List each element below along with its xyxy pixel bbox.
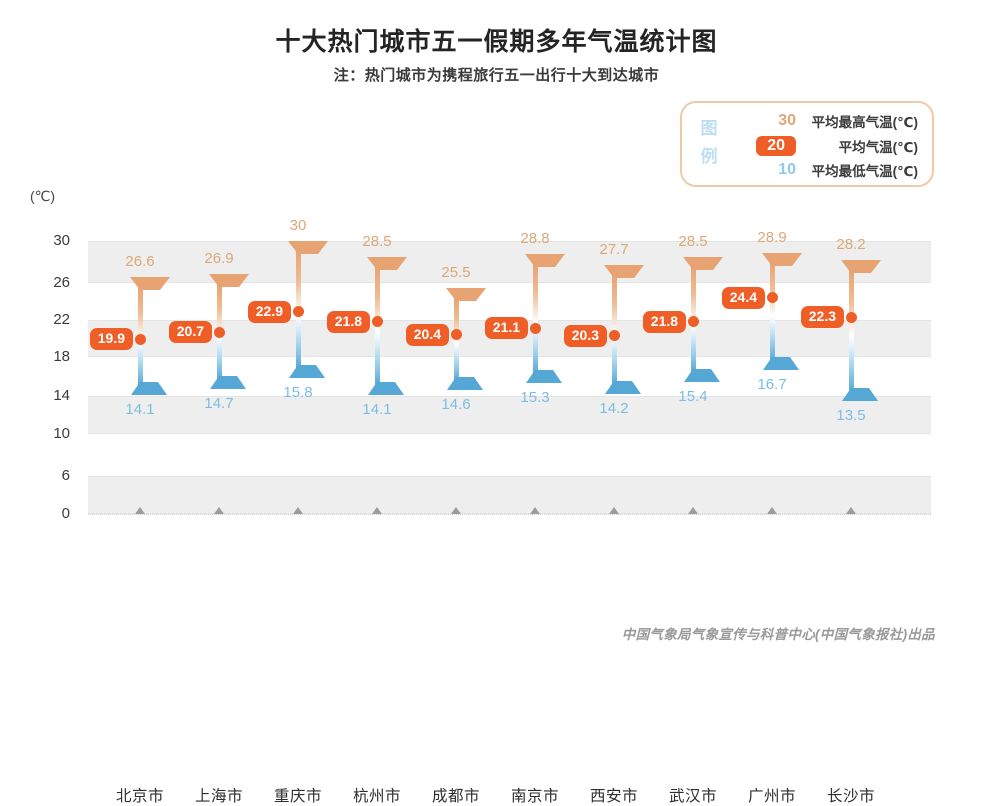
max-temp-label: 28.5 [362, 233, 391, 250]
max-temp-marker [841, 260, 881, 273]
mean-temp-dot [135, 334, 146, 345]
x-axis-label-4: 杭州市 [353, 784, 401, 806]
y-axis-unit: (℃) [30, 188, 55, 205]
max-temp-label: 27.7 [599, 241, 628, 258]
temperature-range-stem [849, 269, 854, 392]
mean-temp-label: 22.3 [801, 306, 844, 328]
min-temp-marker [210, 376, 246, 389]
mean-temp-label: 24.4 [722, 287, 765, 309]
legend-item-min: 10 平均最低气温(℃) [726, 158, 924, 183]
legend-item-mean: 20 平均气温(℃) [726, 134, 924, 159]
legend-key-max: 30 [726, 112, 796, 130]
x-axis-label-9: 广州市 [748, 784, 796, 806]
max-temp-label: 28.8 [520, 230, 549, 247]
min-temp-marker [842, 388, 878, 401]
min-temp-label: 16.7 [757, 376, 786, 393]
x-axis-label-2: 上海市 [195, 784, 243, 806]
mean-temp-dot [609, 330, 620, 341]
mean-temp-dot [530, 323, 541, 334]
max-temp-label: 26.9 [204, 250, 233, 267]
min-temp-marker [526, 370, 562, 383]
min-temp-label: 15.3 [520, 389, 549, 406]
min-temp-marker [289, 365, 325, 378]
axis-tick-marker [372, 507, 382, 514]
max-temp-label: 26.6 [125, 253, 154, 270]
min-temp-marker [447, 377, 483, 390]
max-temp-marker [367, 257, 407, 270]
legend-key-mean: 20 [756, 136, 796, 156]
axis-tick-marker [451, 507, 461, 514]
legend-rows: 30 平均最高气温(℃) 20 平均气温(℃) 10 平均最低气温(℃) [726, 109, 924, 179]
temperature-range-stem [533, 263, 538, 375]
min-temp-marker [605, 381, 641, 394]
page-subtitle: 注：热门城市为携程旅行五一出行十大到达城市 [0, 64, 993, 85]
min-temp-label: 13.5 [836, 407, 865, 424]
max-temp-label: 25.5 [441, 264, 470, 281]
min-temp-marker [131, 382, 167, 395]
max-temp-marker [683, 257, 723, 270]
y-tick-label: 22 [24, 311, 70, 328]
min-temp-marker [684, 369, 720, 382]
mean-temp-dot [688, 316, 699, 327]
x-axis-label-3: 重庆市 [274, 784, 322, 806]
axis-tick-marker [767, 507, 777, 514]
axis-tick-marker [609, 507, 619, 514]
min-temp-marker [763, 357, 799, 370]
min-temp-label: 14.7 [204, 395, 233, 412]
mean-temp-label: 20.3 [564, 325, 607, 347]
axis-tick-marker [214, 507, 224, 514]
min-temp-label: 14.6 [441, 396, 470, 413]
plot-area: 3026221814106019.926.614.1北京市20.726.914.… [88, 236, 931, 518]
mean-temp-dot [451, 329, 462, 340]
y-tick-label: 14 [24, 387, 70, 404]
y-tick-label: 18 [24, 348, 70, 365]
legend: 图例 30 平均最高气温(℃) 20 平均气温(℃) 10 平均最低气温(℃) [680, 101, 934, 187]
x-axis-label-6: 南京市 [511, 784, 559, 806]
mean-temp-label: 22.9 [248, 301, 291, 323]
axis-baseline [88, 514, 931, 515]
footer-credit: 中国气象局气象宣传与科普中心(中国气象报社)出品 [622, 623, 935, 643]
max-temp-marker [525, 254, 565, 267]
mean-temp-dot [846, 312, 857, 323]
max-temp-label: 28.9 [757, 229, 786, 246]
y-tick-label: 26 [24, 274, 70, 291]
x-axis-label-8: 武汉市 [669, 784, 717, 806]
mean-temp-dot [767, 292, 778, 303]
legend-item-max: 30 平均最高气温(℃) [726, 109, 924, 134]
max-temp-marker [762, 253, 802, 266]
mean-temp-label: 20.4 [406, 324, 449, 346]
axis-tick-marker [135, 507, 145, 514]
max-temp-marker [130, 277, 170, 290]
legend-label-max: 平均最高气温(℃) [796, 111, 924, 131]
legend-title: 图例 [696, 115, 722, 171]
max-temp-marker [209, 274, 249, 287]
min-temp-marker [368, 382, 404, 395]
mean-temp-label: 21.1 [485, 317, 528, 339]
max-temp-label: 30 [290, 217, 307, 234]
legend-label-min: 平均最低气温(℃) [796, 160, 924, 180]
min-temp-label: 15.8 [283, 384, 312, 401]
max-temp-marker [446, 288, 486, 301]
y-tick-label: 30 [24, 232, 70, 249]
mean-temp-label: 19.9 [90, 328, 133, 350]
min-temp-label: 14.2 [599, 400, 628, 417]
mean-temp-label: 21.8 [643, 311, 686, 333]
x-axis-label-5: 成都市 [432, 784, 480, 806]
max-temp-marker [288, 241, 328, 254]
y-tick-label: 0 [24, 505, 70, 522]
mean-temp-label: 21.8 [327, 311, 370, 333]
axis-tick-marker [530, 507, 540, 514]
y-tick-label: 10 [24, 425, 70, 442]
mean-temp-dot [293, 306, 304, 317]
min-temp-label: 14.1 [362, 401, 391, 418]
mean-temp-dot [372, 316, 383, 327]
x-axis-label-7: 西安市 [590, 784, 638, 806]
axis-tick-marker [293, 507, 303, 514]
legend-key-mean-wrap: 20 [726, 136, 796, 156]
x-axis-label-10: 长沙市 [827, 784, 875, 806]
mean-temp-dot [214, 327, 225, 338]
legend-label-mean: 平均气温(℃) [796, 136, 924, 156]
x-axis-label-1: 北京市 [116, 784, 164, 806]
axis-tick-marker [846, 507, 856, 514]
temperature-range-stem [770, 262, 775, 361]
min-temp-label: 14.1 [125, 401, 154, 418]
max-temp-label: 28.2 [836, 236, 865, 253]
axis-tick-marker [688, 507, 698, 514]
mean-temp-label: 20.7 [169, 321, 212, 343]
page-title: 十大热门城市五一假期多年气温统计图 [0, 22, 993, 58]
legend-key-min: 10 [726, 161, 796, 179]
max-temp-marker [604, 265, 644, 278]
y-tick-label: 6 [24, 467, 70, 484]
max-temp-label: 28.5 [678, 233, 707, 250]
min-temp-label: 15.4 [678, 388, 707, 405]
